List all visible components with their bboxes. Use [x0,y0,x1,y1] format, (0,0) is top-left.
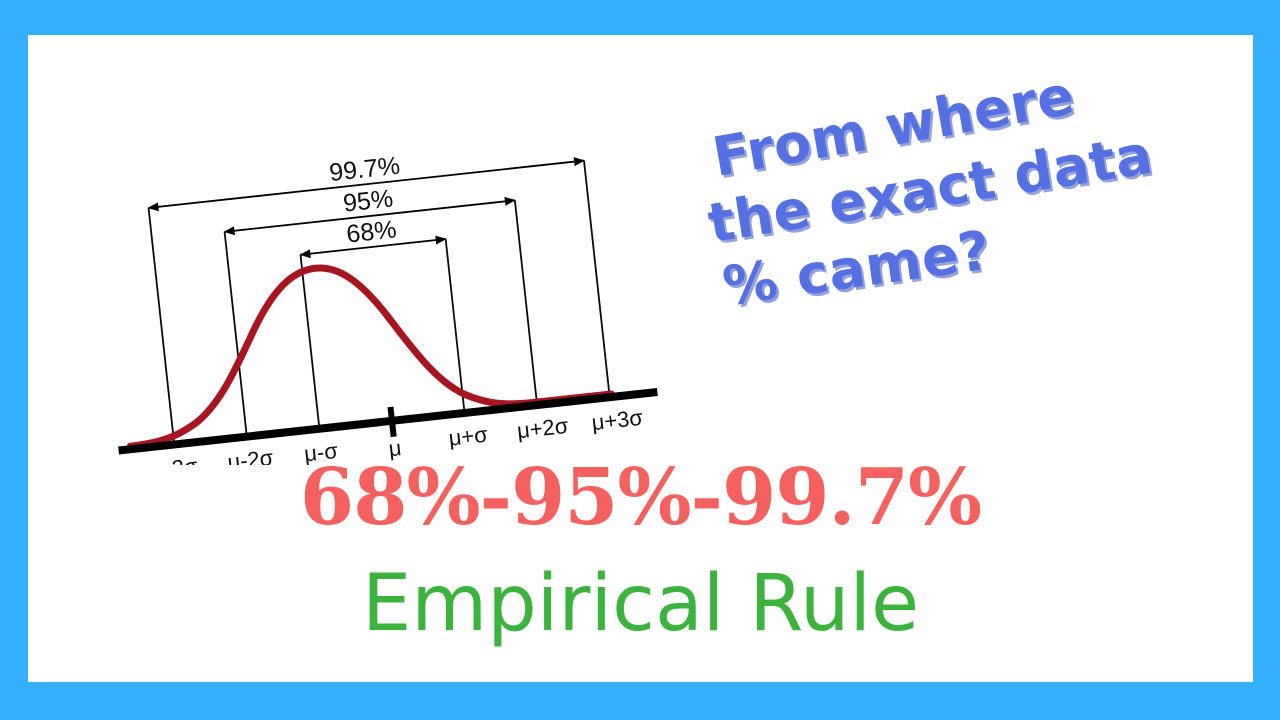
x-tick-label-plus-3-sigma: μ+3σ [590,405,644,435]
mean-tick-mark [390,407,393,437]
percent-title: 68%-95%-99.7% [28,459,1253,537]
x-tick-label-plus-1-sigma: μ+σ [447,422,489,451]
interval-95-label: 95% [342,185,395,218]
interval-68-label: 68% [345,215,398,248]
empirical-rule-title: Empirical Rule [28,565,1253,643]
interval-68: 68% [297,210,445,255]
slide-canvas: 68% 95% 99.7% μ-3σ μ-2σ [28,35,1253,682]
x-tick-label-plus-2-sigma: μ+2σ [516,413,570,443]
normal-curve [113,238,611,446]
empirical-rule-diagram: 68% 95% 99.7% μ-3σ μ-2σ [108,115,668,465]
question-text-block: From where the exact data % came? [704,121,1224,386]
slide-frame: 68% 95% 99.7% μ-3σ μ-2σ [0,0,1280,720]
